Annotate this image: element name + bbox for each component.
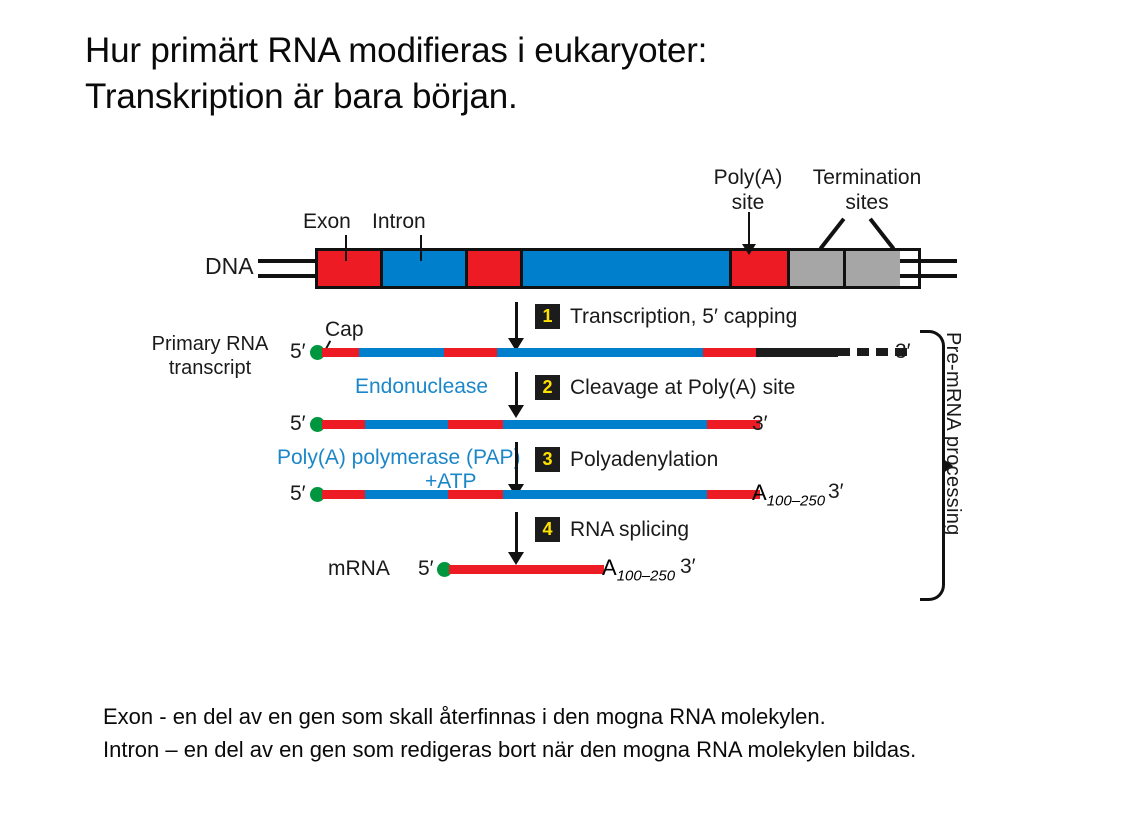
step-1-text: Transcription, 5′ capping (570, 305, 797, 329)
rna-segment (448, 420, 503, 429)
rna-segment (322, 348, 359, 357)
dna-segment-exon (465, 251, 520, 286)
rna-segment (322, 420, 365, 429)
row-4-three-prime: 3′ (680, 555, 696, 579)
dna-gene-bar (315, 248, 921, 289)
row-1-rna-strand (322, 348, 838, 357)
rna-segment (365, 420, 448, 429)
row-4-polya-tail: A100–250 (602, 555, 675, 584)
dna-label: DNA (205, 253, 254, 280)
page-title: Hur primärt RNA modifieras i eukaryoter:… (85, 28, 985, 120)
rna-segment (444, 348, 497, 357)
intron-leader-line (420, 235, 422, 261)
dna-segment-exon (729, 251, 787, 286)
step-1-arrow (515, 302, 518, 340)
rna-segment (448, 490, 503, 499)
dna-segment-intron (380, 251, 465, 286)
rna-segment (503, 490, 707, 499)
termination-peak-icon (826, 219, 888, 250)
mrna-label: mRNA (328, 557, 390, 581)
pre-mrna-processing-label: Pre-mRNA processing (941, 332, 964, 594)
step-2-text: Cleavage at Poly(A) site (570, 376, 795, 400)
row-4-rna-strand (449, 565, 604, 574)
definition-caption: Exon - en del av en gen som skall återfi… (103, 700, 1063, 767)
dna-segment-termination (843, 251, 900, 286)
step-4-badge: 4 (535, 517, 560, 542)
step-2-badge: 2 (535, 375, 560, 400)
row-3-rna-strand (322, 490, 760, 499)
dna-segment-intron (520, 251, 729, 286)
rna-segment (756, 348, 838, 357)
step-3-arrow (515, 442, 518, 486)
slide: Hur primärt RNA modifieras i eukaryoter:… (0, 0, 1140, 824)
step-3-text: Polyadenylation (570, 448, 718, 472)
step-4-arrow (515, 512, 518, 554)
polya-site-label: Poly(A) site (700, 166, 796, 216)
rna-segment (703, 348, 756, 357)
dna-segment-exon (318, 251, 380, 286)
dna-segment-termination (787, 251, 843, 286)
step-4-text: RNA splicing (570, 518, 689, 542)
rna-segment (503, 420, 707, 429)
row-1-five-prime: 5′ (290, 340, 306, 364)
step-2-enzyme-label: Endonuclease (355, 375, 488, 399)
caption-line-exon: Exon - en del av en gen som skall återfi… (103, 700, 1063, 733)
exon-label: Exon (303, 210, 351, 234)
polya-site-arrow (748, 212, 750, 246)
step-3-badge: 3 (535, 447, 560, 472)
cap-label: Cap (325, 318, 364, 342)
rna-segment (497, 348, 703, 357)
row-3-five-prime: 5′ (290, 482, 306, 506)
rna-segment (359, 348, 444, 357)
rna-segment (365, 490, 448, 499)
exon-leader-line (345, 235, 347, 261)
row-3-polya-tail: A100–250 (752, 480, 825, 509)
step-1-badge: 1 (535, 304, 560, 329)
caption-line-intron: Intron – en del av en gen som redigeras … (103, 733, 1063, 766)
row-2-five-prime: 5′ (290, 412, 306, 436)
title-line-2: Transkription är bara början. (85, 74, 985, 120)
row-2-rna-strand (322, 420, 760, 429)
title-line-1: Hur primärt RNA modifieras i eukaryoter: (85, 28, 985, 74)
row-2-three-prime: 3′ (752, 412, 768, 436)
rna-processing-diagram: DNA Exon Intron Poly(A) site Termination… (0, 150, 1140, 620)
row-4-five-prime: 5′ (418, 557, 434, 581)
row-1-three-prime: 3′ (895, 340, 911, 364)
row-3-three-prime: 3′ (828, 480, 844, 504)
intron-label: Intron (372, 210, 426, 234)
termination-sites-label: Termination sites (806, 166, 928, 216)
rna-segment (449, 565, 604, 574)
primary-rna-transcript-label: Primary RNA transcript (130, 332, 290, 380)
step-3-enzyme-label: Poly(A) polymerase (PAP) (277, 446, 521, 470)
step-2-arrow (515, 372, 518, 407)
dna-strand-left (258, 259, 318, 278)
rna-segment (322, 490, 365, 499)
